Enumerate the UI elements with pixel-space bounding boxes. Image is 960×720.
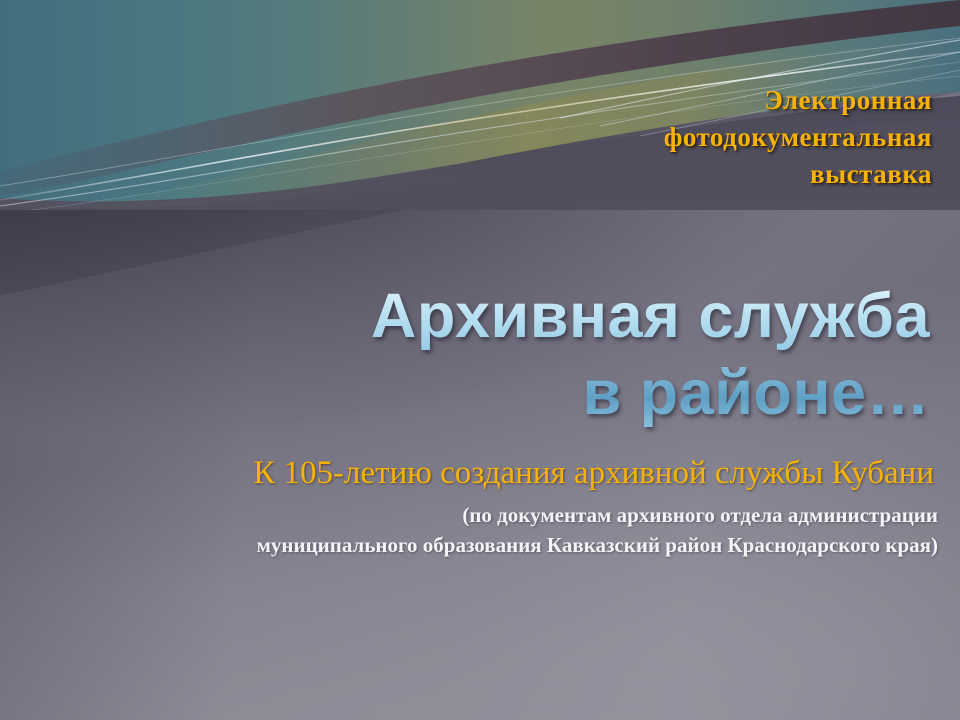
title-line-2: в районе… bbox=[150, 355, 930, 432]
subtitle-white-block: (по документам архивного отдела админист… bbox=[8, 500, 938, 560]
kicker-line-1: Электронная bbox=[292, 82, 932, 119]
kicker-line-3: выставка bbox=[292, 156, 932, 193]
presentation-slide: Электронная фотодокументальная выставка … bbox=[0, 0, 960, 720]
subtitle-white-line-2: муниципального образования Кавказский ра… bbox=[8, 530, 938, 560]
slide-title: Архивная служба в районе… bbox=[150, 278, 930, 432]
kicker-line-2: фотодокументальная bbox=[292, 119, 932, 156]
subtitle-gold-line: К 105-летию создания архивной службы Куб… bbox=[34, 452, 934, 494]
title-line-1: Архивная служба bbox=[150, 278, 930, 355]
kicker-text-block: Электронная фотодокументальная выставка bbox=[292, 82, 932, 193]
subtitle-white-line-1: (по документам архивного отдела админист… bbox=[8, 500, 938, 530]
